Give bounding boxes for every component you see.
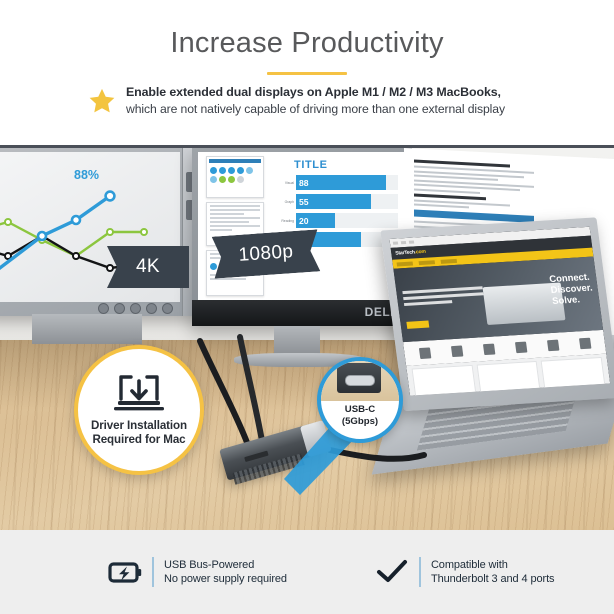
usb-c-label: USB-C — [342, 404, 378, 416]
driver-badge-line2: Required for Mac — [91, 433, 187, 447]
left-monitor: 88% — [0, 148, 200, 343]
download-to-laptop-icon — [113, 373, 165, 413]
category-icon[interactable] — [578, 337, 590, 349]
usb-c-speed: (5Gbps) — [342, 416, 378, 428]
monitor-button[interactable] — [114, 303, 125, 314]
middle-monitor-neck — [274, 326, 320, 356]
website-hero-banner: Connect. Discover. Solve. — [393, 256, 603, 342]
monitor-button[interactable] — [98, 303, 109, 314]
bar-category-label: Visual — [272, 181, 296, 185]
category-icon[interactable] — [482, 343, 494, 355]
document-thumbnail — [206, 156, 264, 198]
footer-item-text: Compatible with Thunderbolt 3 and 4 port… — [431, 558, 554, 586]
footer-item-line1: Compatible with — [431, 558, 554, 572]
footer-item-usb-bus-powered: USB Bus-Powered No power supply required — [108, 557, 287, 587]
monitor-button[interactable] — [130, 303, 141, 314]
left-monitor-stand — [32, 314, 142, 344]
macbook-laptop: StarTech.com Connect. Discover. — [404, 229, 614, 489]
middle-monitor-screen: TITLE Visual 88 Graph — [198, 152, 406, 300]
feature-bullet: Enable extended dual displays on Apple M… — [88, 84, 558, 117]
category-icon[interactable] — [450, 345, 462, 357]
laptop-lid: StarTech.com Connect. Discover. — [380, 217, 614, 411]
feature-bullet-line1: Enable extended dual displays on Apple M… — [126, 84, 505, 100]
driver-badge-line1: Driver Installation — [91, 419, 187, 433]
doc-icon-grid — [207, 165, 263, 185]
footer: USB Bus-Powered No power supply required… — [0, 530, 614, 614]
page-title: Increase Productivity — [0, 27, 614, 60]
bar-row: Visual 88 — [272, 175, 398, 190]
bar-row: Graph 55 — [272, 194, 398, 209]
resolution-ribbon-4k: 4K — [107, 246, 189, 288]
doc-header-bar — [209, 159, 261, 163]
bar-fill: 20 — [296, 213, 335, 228]
hero-tagline: Connect. Discover. Solve. — [549, 271, 595, 306]
bar-value-label: 88 — [296, 178, 309, 188]
bar-category-label: Graph — [272, 200, 296, 204]
hero-copy-lines — [402, 283, 485, 309]
monitor-power-button[interactable] — [162, 303, 173, 314]
chart-annotation-88-percent: 88% — [74, 168, 99, 182]
bar-track: 88 — [296, 175, 398, 190]
usb-c-port-opening — [345, 375, 375, 386]
adapter-logo — [244, 451, 268, 462]
header: Increase Productivity Enable extended du… — [0, 0, 614, 145]
footer-item-line1: USB Bus-Powered — [164, 558, 287, 572]
battery-bolt-icon — [108, 557, 142, 587]
bar-chart-title: TITLE — [294, 159, 328, 171]
bar-track: 55 — [296, 194, 398, 209]
footer-items: USB Bus-Powered No power supply required… — [0, 530, 614, 614]
bar-chart-panel: TITLE Visual 88 Graph — [268, 156, 400, 300]
product-card[interactable] — [541, 357, 606, 394]
star-icon — [88, 87, 116, 115]
bar-row: Reading 20 — [272, 213, 398, 228]
product-feature-image: Increase Productivity Enable extended du… — [0, 0, 614, 614]
footer-divider — [152, 557, 154, 587]
bar-fill: 88 — [296, 175, 386, 190]
hero-tagline-line3: Solve. — [551, 292, 594, 305]
footer-item-line2: Thunderbolt 3 and 4 ports — [431, 572, 554, 586]
product-card[interactable] — [476, 361, 541, 396]
feature-bullet-text: Enable extended dual displays on Apple M… — [126, 84, 505, 117]
usb-c-callout: USB-C (5Gbps) — [317, 357, 403, 443]
category-icon[interactable] — [546, 339, 558, 351]
bar-fill: 55 — [296, 194, 371, 209]
footer-divider — [419, 557, 421, 587]
usb-c-connector-icon — [321, 361, 399, 401]
checkmark-icon — [375, 557, 409, 587]
category-icon[interactable] — [418, 347, 430, 359]
resolution-ribbon-1080p: 1080p — [212, 229, 321, 278]
left-monitor-buttons[interactable] — [98, 302, 180, 314]
laptop-screen: StarTech.com Connect. Discover. — [389, 227, 610, 396]
monitor-button[interactable] — [146, 303, 157, 314]
product-card[interactable] — [412, 365, 477, 396]
footer-item-line2: No power supply required — [164, 572, 287, 586]
driver-installation-badge: Driver Installation Required for Mac — [74, 345, 204, 475]
feature-bullet-line2: which are not natively capable of drivin… — [126, 101, 505, 117]
hero-cta-button[interactable] — [406, 321, 429, 329]
bar-track: 20 — [296, 213, 398, 228]
bar-value-label: 55 — [296, 197, 309, 207]
driver-badge-text: Driver Installation Required for Mac — [91, 419, 187, 447]
category-icon[interactable] — [514, 341, 526, 353]
footer-item-text: USB Bus-Powered No power supply required — [164, 558, 287, 586]
bar-category-label: Reading — [272, 219, 296, 223]
footer-item-thunderbolt-compatible: Compatible with Thunderbolt 3 and 4 port… — [375, 557, 554, 587]
photo-top-edge — [0, 145, 614, 148]
usb-c-callout-text: USB-C (5Gbps) — [342, 404, 378, 428]
title-underline-rule — [267, 72, 347, 75]
bar-value-label: 20 — [296, 216, 309, 226]
product-photo: 88% — [0, 145, 614, 530]
startech-logo[interactable]: StarTech.com — [395, 249, 426, 257]
document-thumbnail-column — [206, 156, 262, 300]
